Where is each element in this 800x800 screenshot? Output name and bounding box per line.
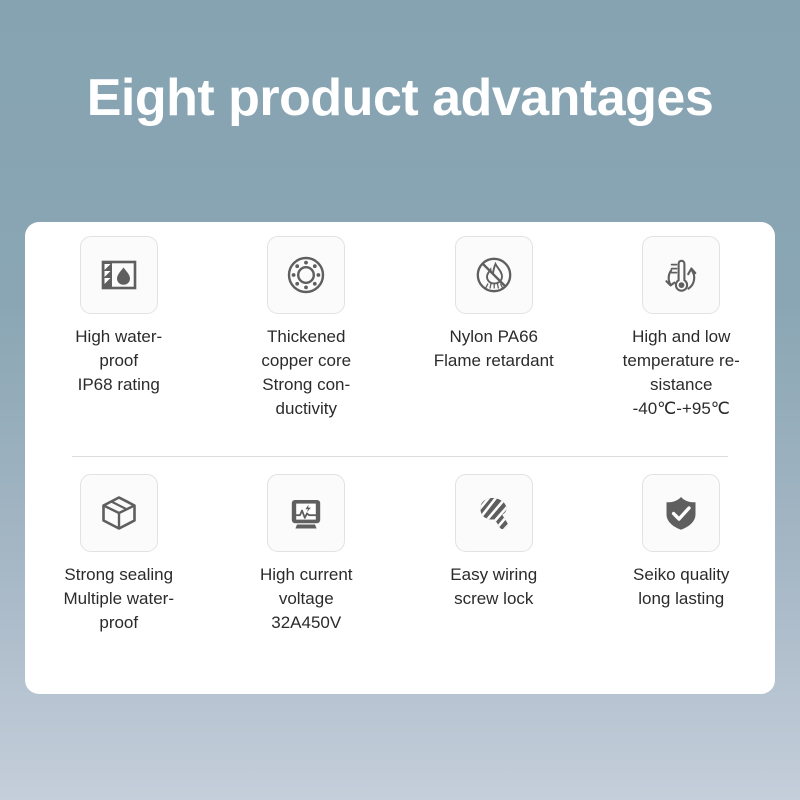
feature-item-strong-sealing: Strong sealing Multiple water- proof	[25, 474, 213, 635]
row-divider	[72, 456, 728, 457]
no-flame-retardant-icon	[455, 236, 533, 314]
page-title: Eight product advantages	[0, 68, 800, 128]
thermometer-temperature-icon	[642, 236, 720, 314]
features-card: High water- proof IP68 rating	[25, 222, 775, 694]
feature-item-temperature-resistance: High and low temperature re- sistance -4…	[588, 236, 776, 421]
feature-item-current-voltage: High current voltage 32A450V	[213, 474, 401, 635]
features-row-bottom: Strong sealing Multiple water- proof Hig…	[25, 474, 775, 674]
shield-check-icon	[642, 474, 720, 552]
feature-label: High current voltage 32A450V	[260, 563, 353, 635]
feature-item-screw-lock: Easy wiring screw lock	[400, 474, 588, 611]
feature-label: High and low temperature re- sistance -4…	[623, 325, 740, 421]
feature-label: High water- proof IP68 rating	[75, 325, 162, 397]
sealed-box-icon	[80, 474, 158, 552]
copper-core-flange-icon	[267, 236, 345, 314]
feature-label: Seiko quality long lasting	[633, 563, 729, 611]
feature-label: Nylon PA66 Flame retardant	[434, 325, 554, 373]
waterproof-droplet-icon	[80, 236, 158, 314]
screw-icon	[455, 474, 533, 552]
feature-label: Easy wiring screw lock	[450, 563, 537, 611]
feature-label: Strong sealing Multiple water- proof	[63, 563, 174, 635]
voltage-meter-icon	[267, 474, 345, 552]
features-row-top: High water- proof IP68 rating	[25, 236, 775, 456]
feature-item-waterproof: High water- proof IP68 rating	[25, 236, 213, 397]
feature-item-flame-retardant: Nylon PA66 Flame retardant	[400, 236, 588, 373]
feature-item-copper-core: Thickened copper core Strong con- ductiv…	[213, 236, 401, 421]
feature-item-seiko-quality: Seiko quality long lasting	[588, 474, 776, 611]
feature-label: Thickened copper core Strong con- ductiv…	[261, 325, 351, 421]
advantages-infographic: Eight product advantages High water- pro…	[0, 0, 800, 800]
